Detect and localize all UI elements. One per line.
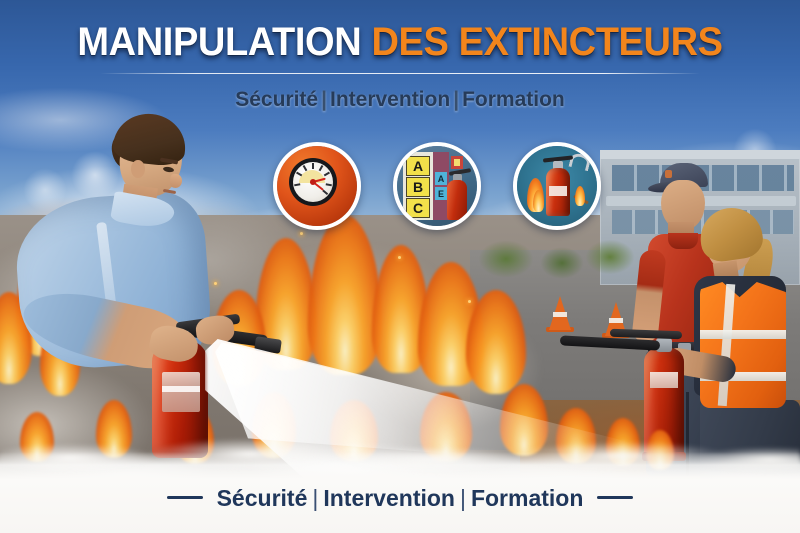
- fire-class-box-a: A: [406, 156, 430, 176]
- subtitle-item-intervention: Intervention: [330, 88, 450, 111]
- subtitle-separator: |: [450, 88, 462, 111]
- cap-logo: [665, 170, 672, 178]
- cone-stripe: [609, 318, 623, 323]
- fire-class-box-b: B: [406, 177, 430, 197]
- fire-class-box-c: C: [406, 198, 430, 218]
- subtitle: Sécurité|Intervention|Formation: [0, 88, 800, 112]
- footer-tagline: Sécurité|Intervention|Formation: [0, 485, 800, 512]
- hi-vis-vest: [700, 282, 786, 408]
- page-title: MANIPULATION DES EXTINCTEURS: [20, 22, 780, 62]
- vest-reflective-stripe: [700, 330, 786, 339]
- badge-extinguisher-flames[interactable]: [513, 142, 601, 230]
- title-part-white: MANIPULATION: [77, 20, 361, 64]
- subtitle-item-formation: Formation: [462, 88, 565, 111]
- badge-extinguisher-body: [447, 180, 467, 220]
- footer-item-formation: Formation: [471, 485, 583, 511]
- footer-separator: |: [307, 485, 323, 511]
- poster-root: MANIPULATION DES EXTINCTEURS Sécurité|In…: [0, 0, 800, 533]
- man-ear: [131, 160, 145, 178]
- badge-fire-classes[interactable]: A B C A E: [393, 142, 481, 230]
- badge-flame-left-small: [533, 190, 544, 212]
- footer-dash-left: [167, 496, 203, 499]
- extinguisher-label: [162, 372, 200, 412]
- building-roof: [600, 150, 800, 159]
- subtitle-item-securite: Sécurité: [235, 88, 318, 111]
- title-divider: [100, 73, 700, 74]
- badge-flame-right: [575, 186, 585, 206]
- fire-class-mini-e: E: [435, 187, 447, 200]
- subtitle-separator: |: [318, 88, 330, 111]
- cone-stripe: [553, 312, 567, 317]
- fire-class-mini-a: A: [435, 172, 447, 185]
- footer-dash-right: [597, 496, 633, 499]
- badge-pressure-gauge[interactable]: [273, 142, 361, 230]
- warning-tag-icon: [451, 156, 463, 169]
- footer-separator: |: [455, 485, 471, 511]
- title-part-orange: DES EXTINCTEURS: [371, 20, 722, 64]
- polo-collar: [668, 233, 698, 249]
- footer-item-securite: Sécurité: [217, 485, 308, 511]
- badge-extinguisher-label: [549, 186, 567, 196]
- extinguisher-label: [650, 372, 678, 388]
- footer-item-intervention: Intervention: [323, 485, 455, 511]
- gauge-tick: [312, 163, 314, 169]
- gauge-hub: [310, 179, 316, 185]
- extinguisher-label-band: [162, 386, 200, 392]
